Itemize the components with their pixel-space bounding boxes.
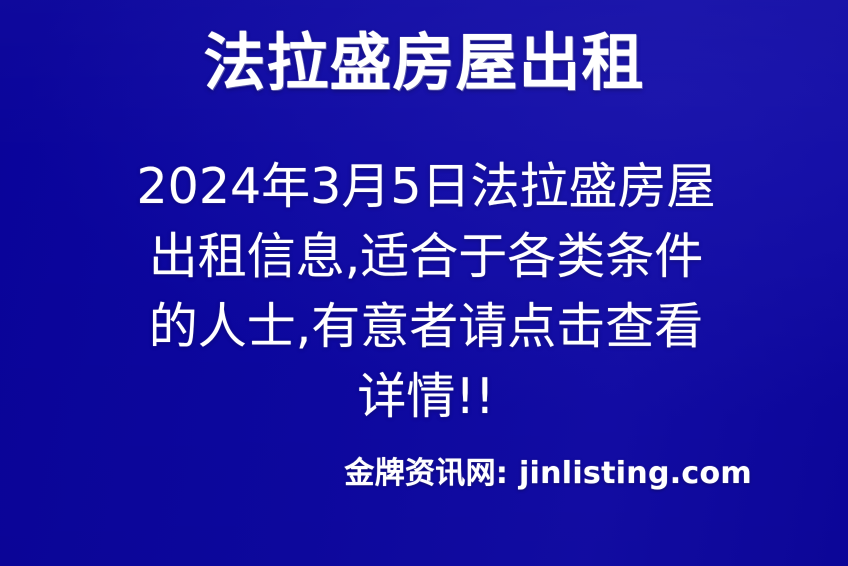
page-title: 法拉盛房屋出租 xyxy=(203,28,644,97)
body-line-2: 出租信息,适合于各类条件 xyxy=(96,222,756,292)
rental-ad-poster: 法拉盛房屋出租 2024年3月5日法拉盛房屋 出租信息,适合于各类条件 的人士,… xyxy=(0,0,848,566)
brand-website: jinlisting.com xyxy=(519,456,752,491)
brand-attribution: 金牌资讯网: jinlisting.com xyxy=(344,456,752,492)
body-line-4: 详情!! xyxy=(96,362,756,432)
footer-row: 金牌资讯网: jinlisting.com xyxy=(0,456,848,492)
body-paragraph: 2024年3月5日法拉盛房屋 出租信息,适合于各类条件 的人士,有意者请点击查看… xyxy=(96,152,756,432)
body-line-1: 2024年3月5日法拉盛房屋 xyxy=(96,152,756,222)
poster-content: 法拉盛房屋出租 2024年3月5日法拉盛房屋 出租信息,适合于各类条件 的人士,… xyxy=(0,0,848,566)
brand-label: 金牌资讯网: xyxy=(344,456,508,491)
body-line-3: 的人士,有意者请点击查看 xyxy=(96,292,756,362)
title-row: 法拉盛房屋出租 xyxy=(0,28,848,97)
